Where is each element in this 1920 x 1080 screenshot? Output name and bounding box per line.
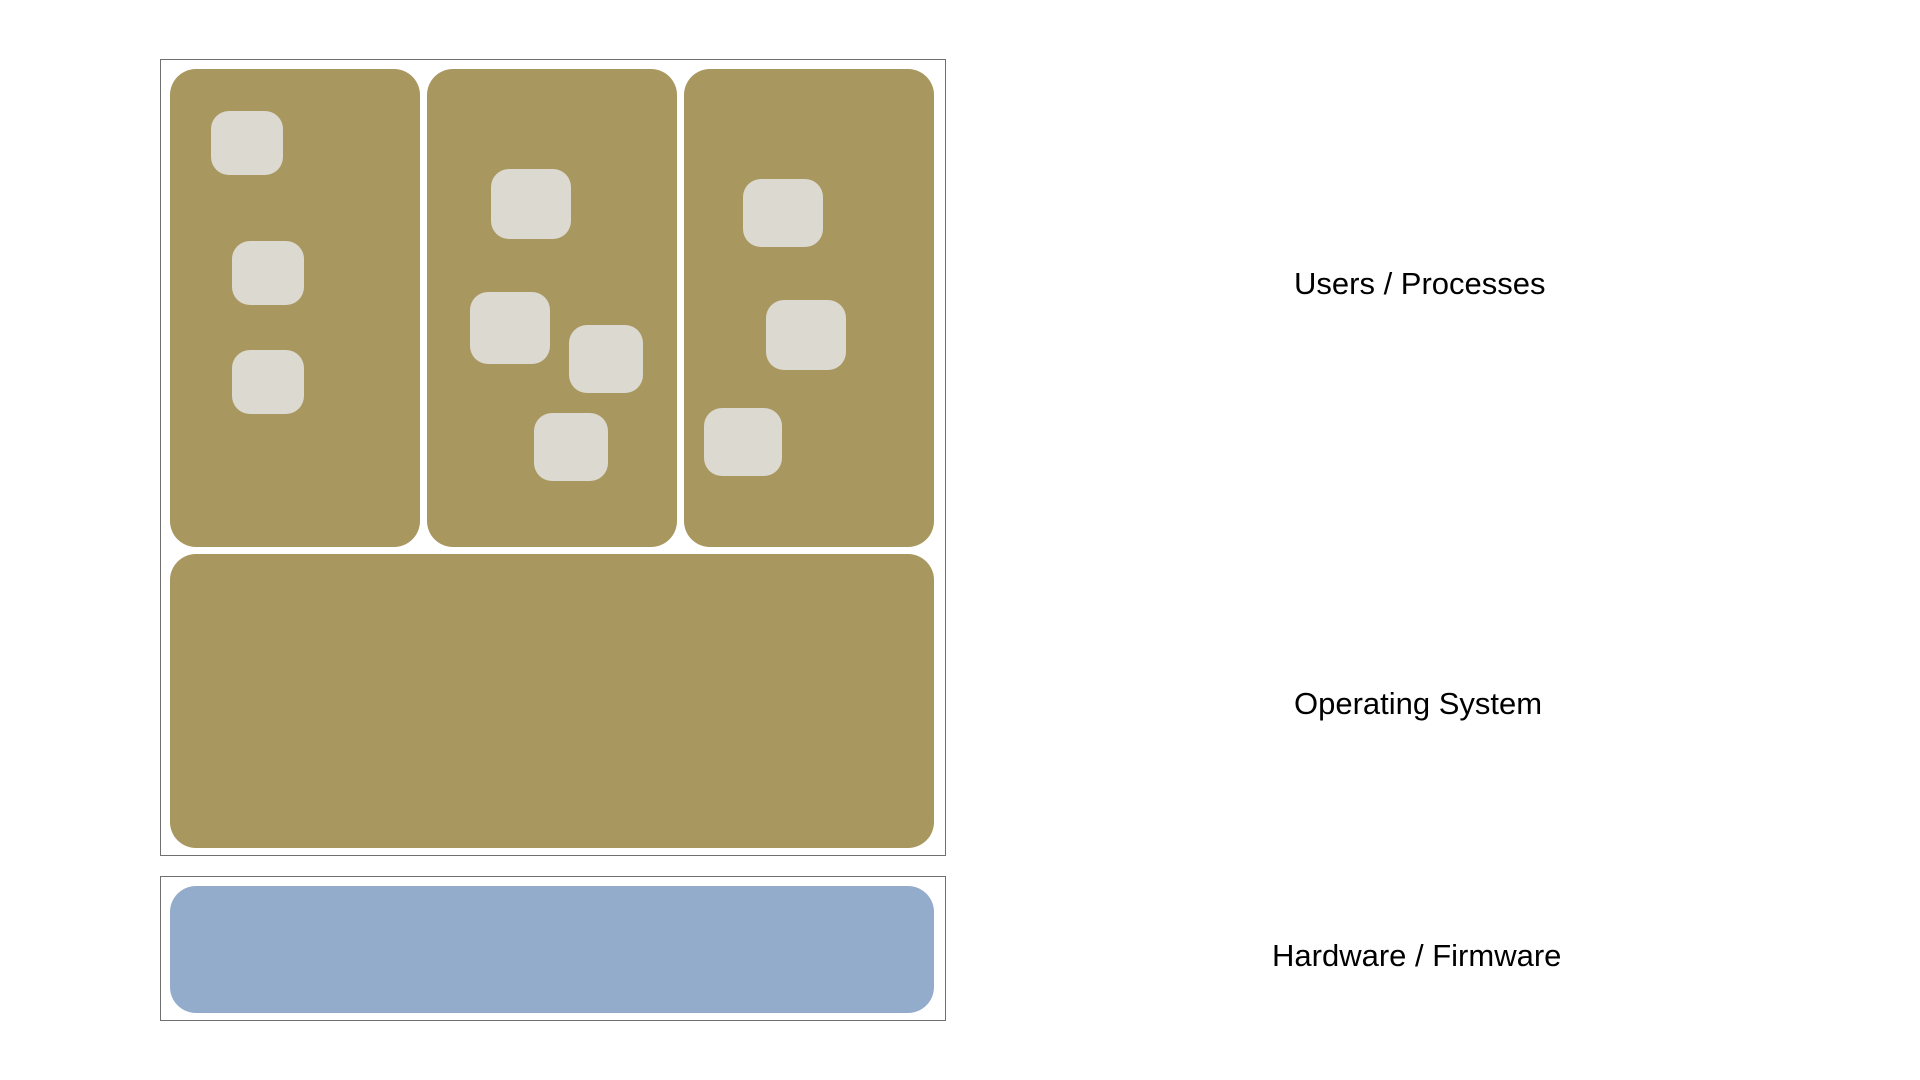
- process-column-3: [684, 69, 934, 547]
- process-square: [232, 241, 304, 305]
- process-square: [470, 292, 550, 364]
- process-square: [232, 350, 304, 414]
- layer-label-users-processes: Users / Processes: [1294, 268, 1546, 299]
- operating-system-block: [170, 554, 934, 848]
- process-square: [569, 325, 643, 393]
- layer-label-hardware-firmware: Hardware / Firmware: [1272, 940, 1561, 971]
- process-square: [704, 408, 782, 476]
- process-square: [491, 169, 571, 239]
- layer-label-operating-system: Operating System: [1294, 688, 1542, 719]
- process-square: [534, 413, 608, 481]
- upper-layer-frame: [160, 59, 946, 856]
- process-column-1: [170, 69, 420, 547]
- process-square: [766, 300, 846, 370]
- process-column-2: [427, 69, 677, 547]
- lower-layer-frame: [160, 876, 946, 1021]
- process-square: [211, 111, 283, 175]
- process-square: [743, 179, 823, 247]
- layered-architecture-diagram: Users / Processes Operating System Hardw…: [0, 0, 1920, 1080]
- hardware-firmware-block: [170, 886, 934, 1013]
